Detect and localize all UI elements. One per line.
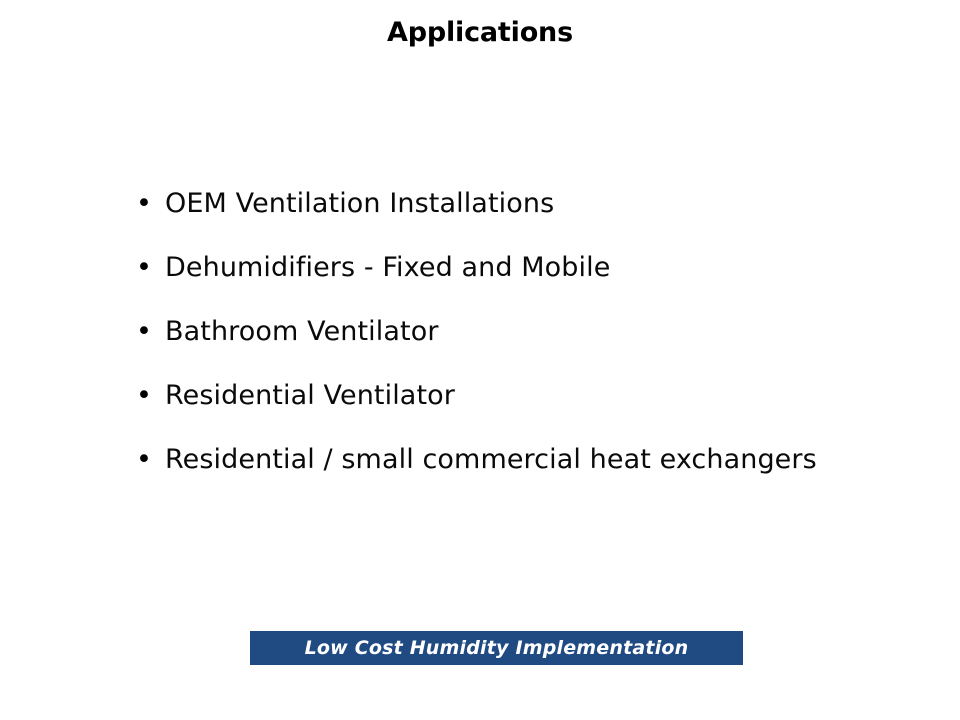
footer-banner-label: Low Cost Humidity Implementation [305, 638, 689, 658]
list-item-label: OEM Ventilation Installations [165, 185, 932, 223]
list-item-label: Dehumidifiers - Fixed and Mobile [165, 249, 932, 287]
list-item: • Residential / small commercial heat ex… [132, 441, 932, 505]
list-item: • Residential Ventilator [132, 377, 932, 441]
list-item: • OEM Ventilation Installations [132, 185, 932, 249]
bullet-point-icon: • [132, 377, 165, 415]
bullet-point-icon: • [132, 185, 165, 223]
list-item: • Bathroom Ventilator [132, 313, 932, 377]
footer-banner: Low Cost Humidity Implementation [250, 631, 743, 665]
list-item: • Dehumidifiers - Fixed and Mobile [132, 249, 932, 313]
applications-bullet-list: • OEM Ventilation Installations • Dehumi… [132, 185, 932, 505]
bullet-point-icon: • [132, 441, 165, 479]
list-item-label: Residential / small commercial heat exch… [165, 441, 932, 479]
bullet-point-icon: • [132, 249, 165, 287]
bullet-point-icon: • [132, 313, 165, 351]
slide-canvas: Applications • OEM Ventilation Installat… [0, 0, 960, 720]
list-item-label: Residential Ventilator [165, 377, 932, 415]
page-title: Applications [0, 17, 960, 49]
list-item-label: Bathroom Ventilator [165, 313, 932, 351]
